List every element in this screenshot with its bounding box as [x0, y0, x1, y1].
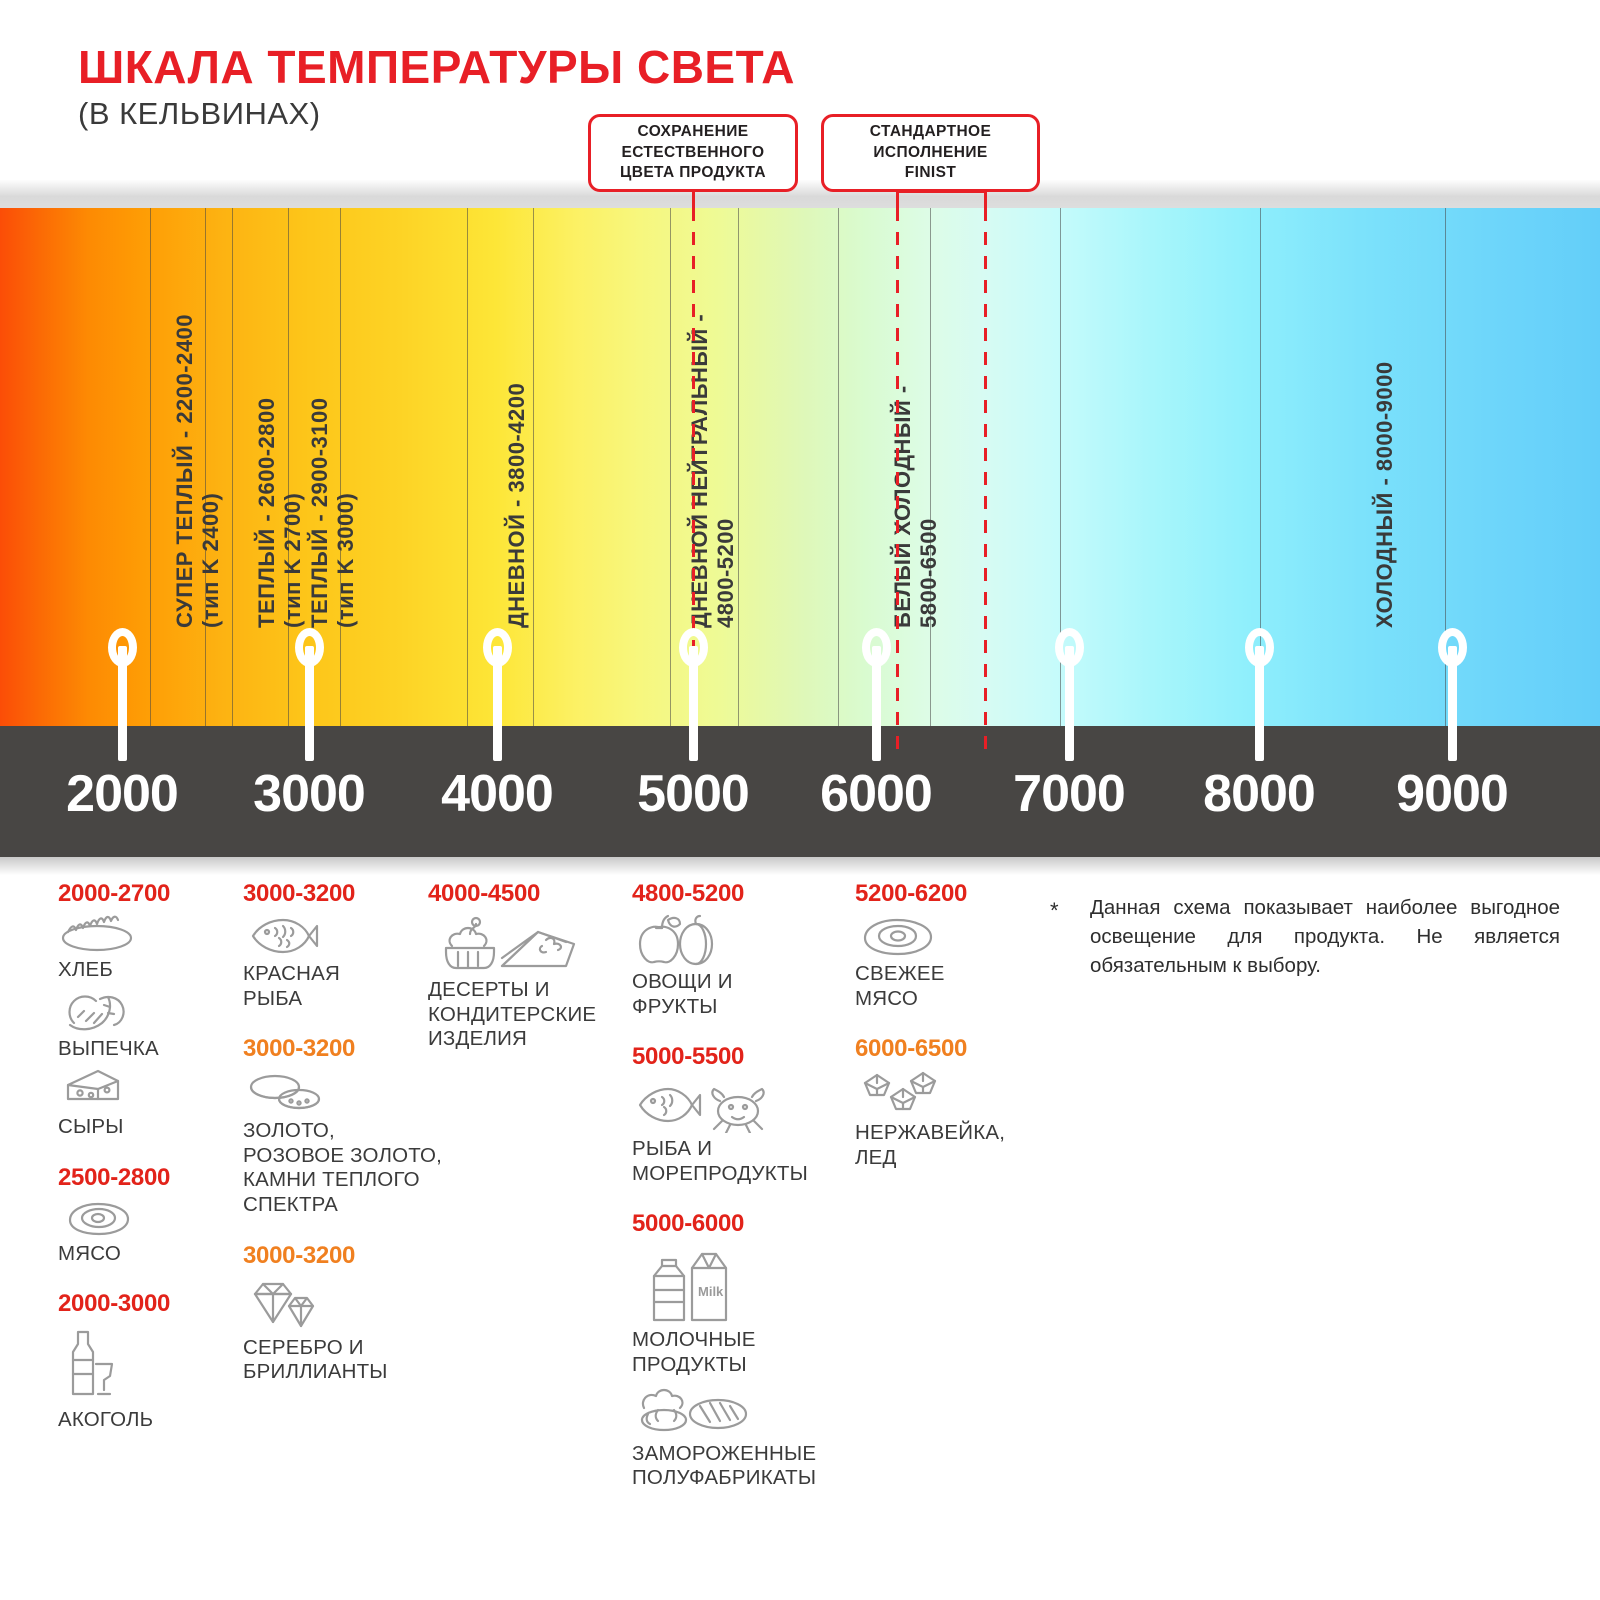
legend-spacer	[243, 1391, 443, 1409]
diamond-icon	[245, 1276, 443, 1332]
legend-group: 2500-2800МЯСО	[58, 1164, 243, 1267]
legend-group: 3000-3200КРАСНАЯ РЫБА	[243, 880, 443, 1011]
bottle-glass-icon	[60, 1324, 243, 1404]
scale-pin-ring	[1245, 628, 1274, 667]
scale-shadow	[0, 857, 1600, 875]
legend-range: 4000-4500	[428, 880, 613, 908]
legend-item-label: ЗАМОРОЖЕННЫЕ ПОЛУФАБРИКАТЫ	[632, 1442, 862, 1491]
legend-group: 5200-6200СВЕЖЕЕ МЯСО	[855, 880, 1040, 1011]
legend-spacer	[632, 1497, 862, 1515]
legend-item-label: СЫРЫ	[58, 1115, 243, 1140]
scale-pin-ring	[108, 628, 137, 667]
fresh-meat-icon	[857, 914, 1040, 958]
legend-spacer	[58, 1272, 243, 1290]
scale-pin	[1245, 628, 1274, 761]
scale-number: 7000	[979, 764, 1159, 824]
milk-carton-icon: Milk	[634, 1244, 862, 1324]
zone-divider	[150, 208, 151, 726]
zone-label: ТЕПЛЫЙ - 2900-3100 (тип K 3000)	[307, 342, 359, 628]
zone-divider	[533, 208, 534, 726]
legend-range: 5000-5500	[632, 1043, 862, 1071]
legend-group: 2000-3000АКОГОЛЬ	[58, 1290, 243, 1433]
legend-group: 6000-6500НЕРЖАВЕЙКА, ЛЕД	[855, 1035, 1040, 1170]
legend-item-label: ЗОЛОТО, РОЗОВОЕ ЗОЛОТО, КАМНИ ТЕПЛОГО СП…	[243, 1119, 443, 1217]
scale-pin-ring	[1055, 628, 1084, 667]
zone-divider	[232, 208, 233, 726]
legend-spacer	[243, 1224, 443, 1242]
callout-standard-finist: СТАНДАРТНОЕ ИСПОЛНЕНИЕ FINIST	[821, 114, 1040, 192]
legend-column: 3000-3200КРАСНАЯ РЫБА3000-3200ЗОЛОТО, РО…	[243, 880, 443, 1409]
bread-icon	[60, 914, 243, 954]
legend-spacer	[855, 1176, 1040, 1194]
scale-number: 6000	[786, 764, 966, 824]
footnote-marker: *	[1050, 895, 1059, 926]
zone-divider	[838, 208, 839, 726]
legend-spacer	[243, 1017, 443, 1035]
scale-pin	[1055, 628, 1084, 761]
page-title: ШКАЛА ТЕМПЕРАТУРЫ СВЕТА	[78, 40, 795, 94]
legend-range: 2000-2700	[58, 880, 243, 908]
zone-label: ТЕПЛЫЙ - 2600-2800 (тип K 2700)	[254, 342, 306, 628]
fish-icon	[245, 914, 443, 958]
croissant-icon	[60, 987, 243, 1033]
legend-spacer	[428, 1058, 613, 1076]
fruits-vegetables-icon	[634, 914, 862, 966]
svg-text:Milk: Milk	[698, 1284, 724, 1299]
legend-item-label: СЕРЕБРО И БРИЛЛИАНТЫ	[243, 1336, 443, 1385]
legend-item-label: РЫБА И МОРЕПРОДУКТЫ	[632, 1137, 862, 1186]
legend-column: 2000-2700ХЛЕБВЫПЕЧКАСЫРЫ2500-2800МЯСО200…	[58, 880, 243, 1457]
footnote: * Данная схема показывает наиболее выгод…	[1050, 893, 1560, 980]
scale-pin	[108, 628, 137, 761]
legend-spacer	[855, 1017, 1040, 1035]
legend-group: 3000-3200СЕРЕБРО И БРИЛЛИАНТЫ	[243, 1242, 443, 1385]
frozen-food-icon	[634, 1382, 862, 1438]
legend-item-label: НЕРЖАВЕЙКА, ЛЕД	[855, 1121, 1040, 1170]
legend-item-label: МЯСО	[58, 1242, 243, 1267]
legend-group: 4800-5200ОВОЩИ И ФРУКТЫ	[632, 880, 862, 1019]
legend-item-label: ДЕСЕРТЫ И КОНДИТЕРСКИЕ ИЗДЕЛИЯ	[428, 978, 613, 1052]
legend-item-label: ВЫПЕЧКА	[58, 1037, 243, 1062]
legend-spacer	[632, 1192, 862, 1210]
legend-group: 5000-6000MilkМОЛОЧНЫЕ ПРОДУКТЫЗАМОРОЖЕНН…	[632, 1210, 862, 1490]
legend-item-label: АКОГОЛЬ	[58, 1408, 243, 1433]
footnote-text: Данная схема показывает наиболее выгодно…	[1090, 893, 1560, 980]
page-subtitle: (В КЕЛЬВИНАХ)	[78, 96, 321, 132]
callout-leader-line	[692, 192, 695, 216]
legend-range: 3000-3200	[243, 1242, 443, 1270]
legend-item-label: ОВОЩИ И ФРУКТЫ	[632, 970, 862, 1019]
legend-item-label: МОЛОЧНЫЕ ПРОДУКТЫ	[632, 1328, 862, 1377]
scale-pin	[679, 628, 708, 761]
legend-range: 2000-3000	[58, 1290, 243, 1318]
legend-group: 3000-3200ЗОЛОТО, РОЗОВОЕ ЗОЛОТО, КАМНИ Т…	[243, 1035, 443, 1217]
legend-spacer	[632, 1025, 862, 1043]
zone-divider	[670, 208, 671, 726]
scale-number: 2000	[32, 764, 212, 824]
header: ШКАЛА ТЕМПЕРАТУРЫ СВЕТА (В КЕЛЬВИНАХ)	[0, 0, 1600, 205]
legend-range: 5200-6200	[855, 880, 1040, 908]
scale-pin	[862, 628, 891, 761]
scale-pin	[295, 628, 324, 761]
legend-item-label: ХЛЕБ	[58, 958, 243, 983]
legend-group: 4000-4500ДЕСЕРТЫ И КОНДИТЕРСКИЕ ИЗДЕЛИЯ	[428, 880, 613, 1052]
steak-icon	[60, 1198, 243, 1238]
scale-pin-ring	[295, 628, 324, 667]
gray-strip	[0, 180, 1600, 210]
zone-divider	[467, 208, 468, 726]
legend-column: 5200-6200СВЕЖЕЕ МЯСО6000-6500НЕРЖАВЕЙКА,…	[855, 880, 1040, 1194]
zone-label: ХОЛОДНЫЙ - 8000-9000	[1372, 305, 1398, 628]
callout-leader-line	[896, 192, 899, 216]
legend-spacer	[58, 1439, 243, 1457]
legend-range: 2500-2800	[58, 1164, 243, 1192]
scale-pin	[1438, 628, 1467, 761]
scale-number: 4000	[407, 764, 587, 824]
callout-leader-line	[984, 192, 987, 216]
scale-pin-ring	[483, 628, 512, 667]
ice-cubes-icon	[857, 1069, 1040, 1117]
cake-icon	[430, 914, 613, 974]
legend-range: 3000-3200	[243, 880, 443, 908]
zone-label: СУПЕР ТЕПЛЫЙ - 2200-2400 (тип K 2400)	[172, 232, 224, 628]
callout-natural-color: СОХРАНЕНИЕ ЕСТЕСТВЕННОГО ЦВЕТА ПРОДУКТА	[588, 114, 798, 192]
scale-pin	[483, 628, 512, 761]
legend-column: 4800-5200ОВОЩИ И ФРУКТЫ5000-5500РЫБА И М…	[632, 880, 862, 1515]
legend-spacer	[58, 1146, 243, 1164]
legend-item-label: СВЕЖЕЕ МЯСО	[855, 962, 1040, 1011]
scale-number: 5000	[603, 764, 783, 824]
scale-pin-ring	[862, 628, 891, 667]
cheese-icon	[60, 1065, 243, 1111]
red-marker-line	[896, 208, 899, 754]
legend-range: 5000-6000	[632, 1210, 862, 1238]
legend-column: 4000-4500ДЕСЕРТЫ И КОНДИТЕРСКИЕ ИЗДЕЛИЯ	[428, 880, 613, 1076]
scale-pin-ring	[679, 628, 708, 667]
legend-item-label: КРАСНАЯ РЫБА	[243, 962, 443, 1011]
scale-number: 3000	[219, 764, 399, 824]
legend: 2000-2700ХЛЕБВЫПЕЧКАСЫРЫ2500-2800МЯСО200…	[0, 880, 1600, 1600]
red-marker-line	[984, 208, 987, 754]
legend-range: 6000-6500	[855, 1035, 1040, 1063]
legend-group: 2000-2700ХЛЕБВЫПЕЧКАСЫРЫ	[58, 880, 243, 1140]
legend-range: 3000-3200	[243, 1035, 443, 1063]
legend-group: 5000-5500РЫБА И МОРЕПРОДУКТЫ	[632, 1043, 862, 1186]
kelvin-gradient-bar	[0, 208, 1600, 726]
rings-icon	[245, 1069, 443, 1115]
legend-range: 4800-5200	[632, 880, 862, 908]
fish-crab-icon	[634, 1077, 862, 1133]
scale-pin-ring	[1438, 628, 1467, 667]
zone-label: ДНЕВНОЙ - 3800-4200	[504, 322, 530, 628]
scale-number: 8000	[1169, 764, 1349, 824]
scale-number: 9000	[1362, 764, 1542, 824]
